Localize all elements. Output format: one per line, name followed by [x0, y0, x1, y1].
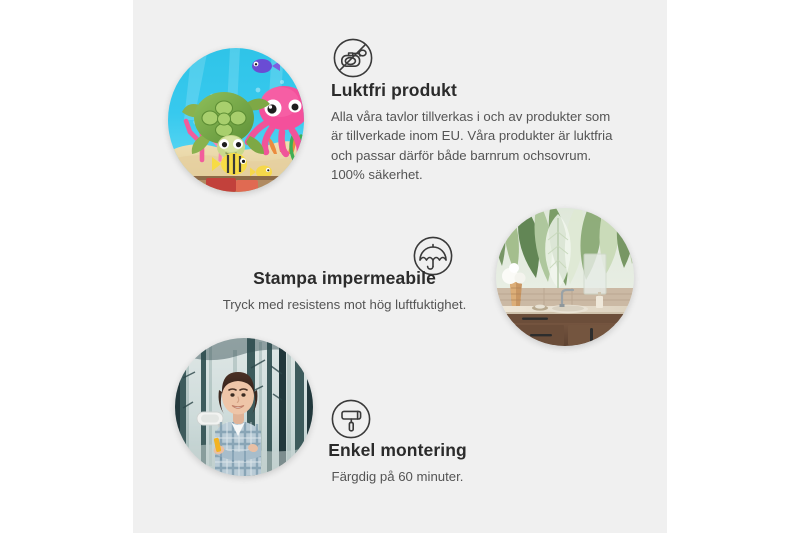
feature-text-odour-free: Luktfri produkt Alla våra tavlor tillver…: [331, 80, 619, 185]
bathroom-vanity-tropical-wallpaper-photo: [496, 208, 634, 346]
underwater-cartoon-scene-photo: [168, 48, 304, 192]
promo-infographic: Luktfri produkt Alla våra tavlor tillver…: [0, 0, 800, 533]
feature-title: Luktfri produkt: [331, 80, 619, 102]
feature-description: Alla våra tavlor tillverkas i och av pro…: [331, 107, 619, 185]
feature-title: Stampa impermeabile: [212, 268, 477, 290]
woman-paint-roller-forest-photo: [175, 338, 313, 476]
paint-roller-icon: [331, 399, 371, 439]
feature-description: Tryck med resistens mot hög luftfuktighe…: [212, 295, 477, 315]
feature-text-waterproof-print: Stampa impermeabile Tryck med resistens …: [212, 268, 477, 314]
feature-title: Enkel montering: [310, 440, 485, 462]
feature-text-easy-mounting: Enkel montering Färgdig på 60 minuter.: [310, 440, 485, 486]
feature-description: Färgdig på 60 minuter.: [310, 467, 485, 487]
no-odour-perfume-icon: [333, 38, 373, 78]
